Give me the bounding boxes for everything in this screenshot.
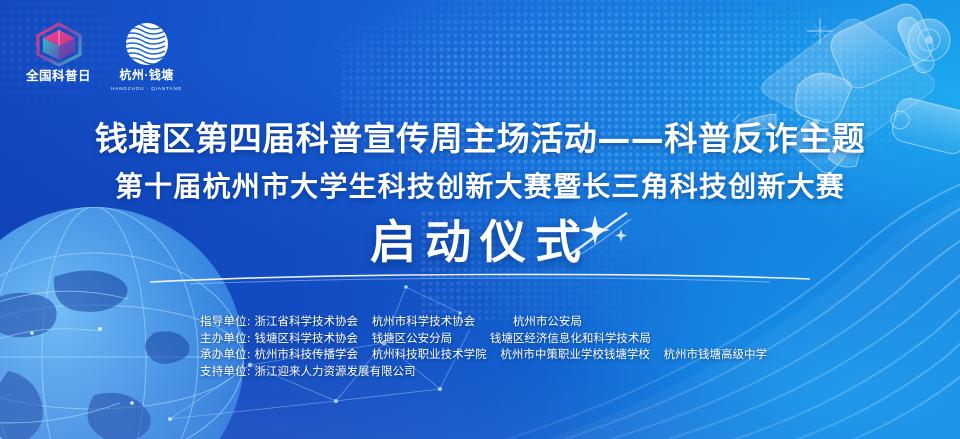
credit-entry: 杭州市中策职业学校钱塘学校 <box>500 347 650 361</box>
credit-line: 指导单位: 浙江省科学技术协会 杭州市科学技术协会 杭州市公安局 <box>200 313 767 330</box>
credit-line: 承办单位: 杭州市科技传播学会 杭州科技职业技术学院 杭州市中策职业学校钱塘学校… <box>200 346 767 363</box>
credit-entry: 浙江迎来人力资源发展有限公司 <box>255 364 416 378</box>
credit-entry: 杭州市科技传播学会 <box>255 347 359 361</box>
credit-entry: 钱塘区经济信息化和科学技术局 <box>490 331 651 345</box>
credit-label: 承办单位: <box>200 347 251 361</box>
ceremony-title: 启动仪式 <box>0 211 960 273</box>
ceremony-title-wrap: 启动仪式 <box>0 211 960 277</box>
event-banner: 全国科普日 杭州·钱塘 <box>0 0 960 439</box>
credit-line: 主办单位: 钱塘区科学技术协会 钱塘区公安分局 钱塘区经济信息化和科学技术局 <box>200 330 767 347</box>
logo-hangzhou-qiantang: 杭州·钱塘 HANGZHOU · QIANTANG <box>111 22 182 92</box>
credit-label: 主办单位: <box>200 331 251 345</box>
credit-entry: 杭州市科学技术协会 <box>372 314 476 328</box>
logo-label-qiantang: 杭州·钱塘 <box>119 69 174 82</box>
credit-entry: 钱塘区公安分局 <box>372 331 453 345</box>
credit-line: 支持单位: 浙江迎来人力资源发展有限公司 <box>200 363 767 380</box>
logo-national-science-day: 全国科普日 <box>26 22 91 83</box>
headline-block: 钱塘区第四届科普宣传周主场活动——科普反诈主题 第十届杭州市大学生科技创新大赛暨… <box>0 118 960 277</box>
credit-entry: 杭州市钱塘高级中学 <box>664 347 768 361</box>
credits-block: 指导单位: 浙江省科学技术协会 杭州市科学技术协会 杭州市公安局 主办单位: 钱… <box>200 313 767 379</box>
credit-entry: 浙江省科学技术协会 <box>255 314 359 328</box>
wave-circle-logo-icon <box>125 22 169 66</box>
cube-logo-icon <box>35 22 83 66</box>
credit-label: 支持单位: <box>200 364 251 378</box>
credit-label: 指导单位: <box>200 314 251 328</box>
logo-row: 全国科普日 杭州·钱塘 <box>26 22 182 92</box>
page-title: 钱塘区第四届科普宣传周主场活动——科普反诈主题 <box>0 118 960 160</box>
logo-label-qiantang-en: HANGZHOU · QIANTANG <box>111 85 182 92</box>
credit-entry: 杭州市公安局 <box>513 314 582 328</box>
page-subtitle: 第十届杭州市大学生科技创新大赛暨长三角科技创新大赛 <box>0 169 960 205</box>
credit-entry: 杭州科技职业技术学院 <box>372 347 487 361</box>
underline-swoosh-icon <box>150 271 810 285</box>
credit-entry: 钱塘区科学技术协会 <box>255 331 359 345</box>
logo-label-national: 全国科普日 <box>26 69 91 83</box>
